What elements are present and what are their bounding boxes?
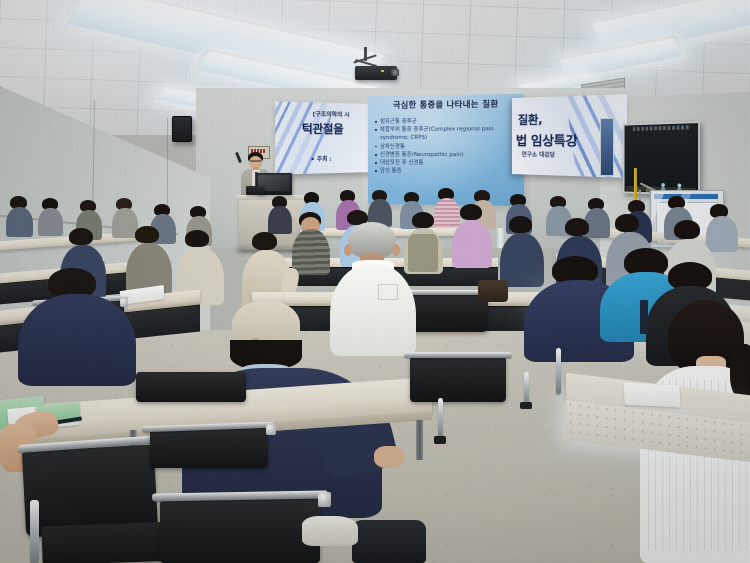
- wall-chart-small: [600, 118, 614, 176]
- wall-speaker-left: [172, 116, 192, 142]
- chair-knob-3: [266, 424, 276, 435]
- desk-leg-2: [416, 420, 423, 460]
- anatomy-chart-caption: [633, 125, 690, 131]
- chair-foot-far-1: [434, 436, 446, 444]
- hair-strand: [730, 344, 750, 398]
- audience-person-white-blouse: [640, 300, 648, 334]
- banner-left-line1: [구조의학의 시: [313, 110, 350, 119]
- lecture-hall-photo: [구조의학의 시 턱관절을 주최 : 극심한 통증을 나타내는 질환 섬유근통 …: [0, 0, 750, 563]
- chair-back-r3b: [408, 292, 488, 332]
- chair-leg-far-2: [524, 372, 529, 406]
- handout-foreground-right: [623, 382, 680, 407]
- banner-right-line3: 연구소 대강당: [522, 150, 555, 159]
- slide-bullet-list: 섬유근통 증후군 복합부위 통증 증후군(Complex regional pa…: [375, 117, 522, 177]
- slide-title: 극심한 통증을 나타내는 질환: [374, 99, 519, 110]
- gray-hair: [348, 222, 396, 258]
- slide-bullet-2: 복합부위 통증 증후군(Complex regional pain syndro…: [375, 125, 522, 142]
- banner-left-bullet-marker: [312, 157, 315, 160]
- banner-left-line2: 턱관절을: [302, 120, 343, 137]
- banner-left-line3: 주최 :: [317, 155, 332, 164]
- banner-right-line2: 법 임상특강: [516, 130, 578, 150]
- projector-lens: [391, 69, 399, 76]
- chair-seat-foreground-1: [41, 522, 172, 563]
- chair-chrome-top-4: [404, 352, 512, 358]
- chair-knob-2: [318, 492, 331, 507]
- chair-back-foreground-4: [410, 356, 506, 402]
- ear-left: [344, 244, 352, 256]
- presenter: [237, 152, 240, 163]
- white-shirt-torso: [330, 264, 416, 356]
- presenter-glasses: [250, 160, 261, 162]
- projector-indicator: [381, 70, 384, 72]
- chair-leg-far-1: [438, 398, 443, 440]
- shirt-pocket: [378, 284, 398, 300]
- banner-left: [구조의학의 시 턱관절을 주최 :: [275, 101, 376, 174]
- slide-bullet-4: 신경병증 통증(Neuropathic pain): [375, 151, 522, 160]
- backpack-foreground: [352, 520, 426, 563]
- slide-bullet-6: 암성 통증: [375, 167, 522, 176]
- banner-right-line1: 질환,: [518, 111, 543, 128]
- chair-back-foreground-5: [136, 372, 246, 402]
- cap-hand: [374, 446, 404, 468]
- chair-back-foreground-2: [160, 500, 320, 563]
- chair-leg-chrome-1: [30, 500, 39, 563]
- chair-foot-far-2: [520, 402, 532, 409]
- lectern-equipment: [246, 186, 264, 195]
- slide-bullet-3: 삼차신경통: [375, 142, 522, 151]
- chair-knob-r3a: [120, 298, 128, 307]
- ear-right: [392, 244, 400, 256]
- pen-in-pocket: [640, 300, 648, 334]
- shoe-white: [302, 516, 358, 546]
- chair-back-foreground-3: [150, 428, 268, 468]
- desk-leg-far-3: [556, 348, 561, 394]
- floor-bag: [478, 280, 508, 302]
